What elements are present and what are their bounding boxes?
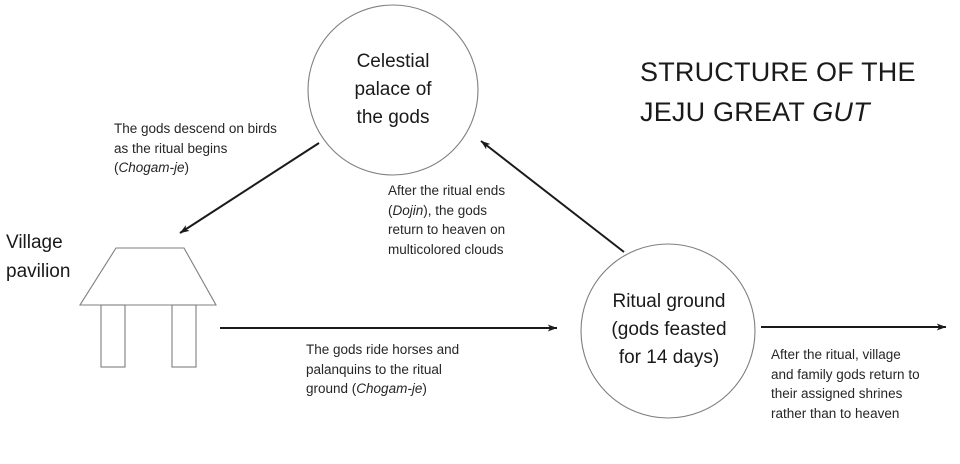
edge-label-shrines-line-2: and family gods return to [771, 365, 957, 385]
diagram-canvas: STRUCTURE OF THE JEJU GREAT GUT Celestia… [0, 0, 960, 464]
edge-label-return-heaven: After the ritual ends (Dojin), the gods … [388, 181, 548, 259]
edge-label-return-heaven-line-3: return to heaven on [388, 220, 548, 240]
village-pavilion-right-leg [172, 305, 196, 367]
edge-label-descend-term: Chogam-je [119, 160, 185, 175]
page-title-line-2-plain: JEJU GREAT [640, 97, 812, 127]
edge-label-ride-horses-open: ground ( [306, 381, 356, 396]
edge-label-return-heaven-term: Dojin [393, 203, 424, 218]
edge-label-ride-horses-line-3: ground (Chogam-je) [306, 379, 506, 399]
edge-label-return-heaven-line-2: (Dojin), the gods [388, 201, 548, 221]
edge-label-ride-horses-line-1: The gods ride horses and [306, 340, 506, 360]
page-title-line-2: JEJU GREAT GUT [640, 92, 940, 132]
celestial-palace-node-circle [308, 5, 478, 175]
edge-label-ride-horses: The gods ride horses and palanquins to t… [306, 340, 506, 399]
village-pavilion-line-1: Village [6, 228, 102, 257]
edge-label-return-heaven-line-1: After the ritual ends [388, 181, 548, 201]
ritual-ground-node-circle [581, 244, 755, 418]
edge-label-shrines: After the ritual, village and family god… [771, 345, 957, 423]
village-pavilion-line-2: pavilion [6, 257, 102, 286]
page-title: STRUCTURE OF THE JEJU GREAT GUT [640, 52, 940, 132]
page-title-line-2-italic: GUT [812, 97, 870, 127]
edge-label-descend-line-2: as the ritual begins [114, 139, 310, 159]
edge-label-shrines-line-1: After the ritual, village [771, 345, 957, 365]
village-pavilion-left-leg [101, 305, 125, 367]
edge-label-return-heaven-rest: ), the gods [423, 203, 487, 218]
edge-label-return-heaven-line-4: multicolored clouds [388, 240, 548, 260]
edge-label-shrines-line-4: rather than to heaven [771, 404, 957, 424]
edge-label-descend-line-1: The gods descend on birds [114, 119, 310, 139]
edge-label-shrines-line-3: their assigned shrines [771, 384, 957, 404]
edge-label-descend: The gods descend on birds as the ritual … [114, 119, 310, 178]
edge-label-ride-horses-line-2: palanquins to the ritual [306, 360, 506, 380]
edge-label-descend-line-3: (Chogam-je) [114, 158, 310, 178]
page-title-line-1: STRUCTURE OF THE [640, 52, 940, 92]
edge-label-descend-close-paren: ) [185, 160, 190, 175]
village-pavilion-node-label: Village pavilion [6, 228, 102, 286]
edge-label-ride-horses-term: Chogam-je [356, 381, 422, 396]
edge-label-ride-horses-close-paren: ) [422, 381, 427, 396]
